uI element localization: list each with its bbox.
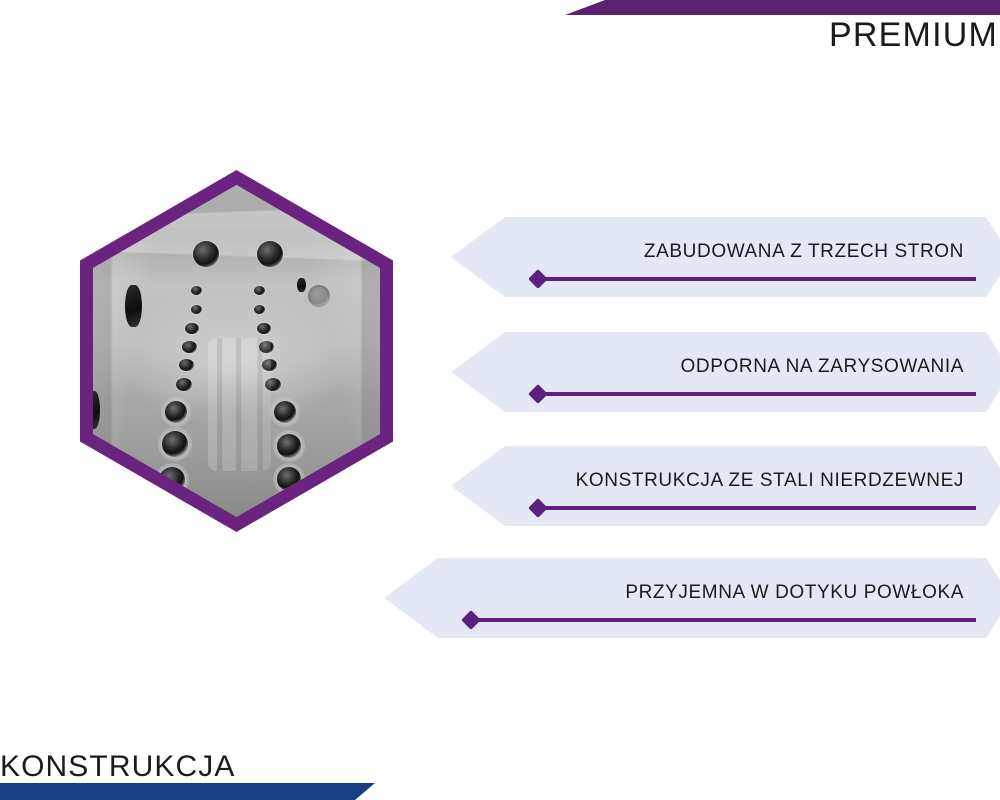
bullet-diamond-icon (528, 498, 548, 518)
control-dial-icon (308, 285, 330, 307)
jet-icon (182, 341, 197, 353)
feature-label: KONSTRUKCJA ZE STALI NIERDZEWNEJ (576, 470, 964, 492)
jet-icon (176, 378, 192, 391)
jet-icon (265, 378, 281, 391)
feature-label: ODPORNA NA ZARYSOWANIA (681, 356, 964, 378)
jet-icon (185, 323, 199, 334)
bullet-diamond-icon (528, 384, 548, 404)
jet-icon (254, 305, 265, 314)
jet-icon (162, 431, 188, 457)
feature-rule (537, 392, 976, 396)
jet-icon (257, 323, 271, 334)
feature-bar[interactable]: ZABUDOWANA Z TRZECH STRON (451, 217, 1000, 297)
jet-icon (165, 401, 187, 423)
drain-slot-icon (297, 278, 306, 292)
feature-rule (537, 506, 976, 510)
feature-rule (470, 618, 976, 622)
jet-icon (193, 241, 219, 267)
page-title: PREMIUM (829, 18, 998, 52)
jet-icon (274, 401, 296, 423)
feature-label: PRZYJEMNA W DOTYKU POWŁOKA (625, 582, 964, 604)
feature-bar[interactable]: ODPORNA NA ZARYSOWANIA (451, 332, 1000, 412)
jet-icon (191, 305, 202, 314)
hexagon-image-frame (80, 170, 393, 532)
bottom-accent-banner (0, 783, 375, 800)
jet-icon (262, 359, 277, 371)
bullet-diamond-icon (528, 269, 548, 289)
feature-bar[interactable]: KONSTRUKCJA ZE STALI NIERDZEWNEJ (451, 446, 1000, 526)
jet-icon (277, 434, 301, 458)
section-title: KONSTRUKCJA (0, 752, 235, 782)
jet-icon (191, 286, 202, 295)
jet-icon (259, 341, 274, 353)
bullet-diamond-icon (461, 610, 481, 630)
jet-icon (254, 286, 265, 295)
feature-label: ZABUDOWANA Z TRZECH STRON (644, 241, 964, 263)
feature-rule (537, 277, 976, 281)
jet-icon (257, 241, 283, 267)
drain-slot-icon (125, 285, 142, 327)
feature-bar[interactable]: PRZYJEMNA W DOTYKU POWŁOKA (384, 558, 1000, 638)
slide-canvas: PREMIUM (0, 0, 1000, 800)
jet-icon (179, 359, 194, 371)
top-accent-banner (565, 0, 1000, 15)
drain-slot-icon (93, 391, 100, 429)
